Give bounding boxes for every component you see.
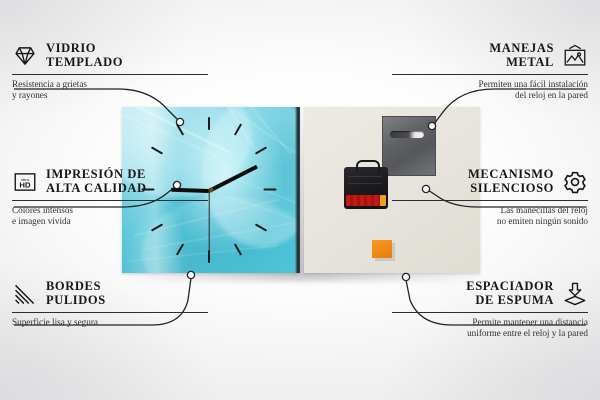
second-hand (208, 191, 209, 255)
ultra-hd-icon: ultra HD (12, 169, 38, 195)
battery-terminal (380, 195, 386, 206)
callout-desc-line1: Colores intensos (12, 205, 208, 216)
glass-panel-edge (295, 107, 300, 273)
callout-title: IMPRESIÓN DE ALTA CALIDAD (46, 168, 147, 195)
clock-center-hub (209, 188, 214, 193)
callout-divider (12, 74, 208, 75)
callout-desc-line2: uniforme entre el reloj y la pared (392, 328, 588, 339)
callout-desc-line2: y rayones (12, 90, 208, 101)
callout-title: VIDRIO TEMPLADO (46, 42, 123, 69)
callout-vidrio-templado: VIDRIO TEMPLADO Resistencia a grietas y … (12, 42, 208, 102)
callout-title: BORDES PULIDOS (46, 280, 106, 307)
callout-header: MANEJAS METAL (392, 42, 588, 69)
callout-header: BORDES PULIDOS (12, 280, 208, 307)
callout-title: ESPACIADOR DE ESPUMA (466, 280, 554, 307)
diamond-icon (12, 43, 38, 69)
callout-divider (12, 312, 208, 313)
mechanism-detail-1 (348, 176, 382, 177)
mechanism-detail-2 (348, 183, 382, 184)
callout-impresion-alta-calidad: ultra HD IMPRESIÓN DE ALTA CALIDAD Color… (12, 168, 208, 228)
metal-hanger-plate (382, 116, 436, 176)
callout-divider (12, 200, 208, 201)
callout-title: MANEJAS METAL (489, 42, 554, 69)
arrow-down-layers-icon (562, 281, 588, 307)
callout-header: ESPACIADOR DE ESPUMA (392, 280, 588, 307)
gear-icon (562, 169, 588, 195)
tick-3 (264, 189, 277, 191)
callout-divider (392, 74, 588, 75)
mechanism-hanging-loop (356, 160, 380, 171)
callout-desc-line1: Las manecillas del reloj (392, 205, 588, 216)
callout-header: VIDRIO TEMPLADO (12, 42, 208, 69)
polished-edges-icon (12, 281, 38, 307)
callout-desc-line1: Resistencia a grietas (12, 79, 208, 90)
foam-spacer (372, 240, 392, 258)
callout-header: ultra HD IMPRESIÓN DE ALTA CALIDAD (12, 168, 208, 195)
callout-desc-line2: e imagen vívida (12, 216, 208, 227)
callout-desc-line1: Permite mantener una distancia (392, 317, 588, 328)
hanger-keyhole-slot (390, 131, 424, 138)
infographic-canvas: VIDRIO TEMPLADO Resistencia a grietas y … (0, 0, 600, 400)
callout-bordes-pulidos: BORDES PULIDOS Superficie lisa y segura (12, 280, 208, 328)
callout-desc-line2: no emiten ningún sonido (392, 216, 588, 227)
callout-header: MECANISMO SILENCIOSO (392, 168, 588, 195)
tick-12 (208, 117, 210, 130)
clock-mechanism (344, 167, 388, 209)
callout-desc-line1: Superficie lisa y segura (12, 317, 208, 328)
callout-desc-line2: del reloj en la pared (392, 90, 588, 101)
callout-divider (392, 200, 588, 201)
callout-manejas-metal: MANEJAS METAL Permiten una fácil instala… (392, 42, 588, 102)
callout-divider (392, 312, 588, 313)
callout-desc-line1: Permiten una fácil instalación (392, 79, 588, 90)
picture-frame-hanger-icon (562, 43, 588, 69)
callout-espaciador-espuma: ESPACIADOR DE ESPUMA Permite mantener un… (392, 280, 588, 340)
callout-mecanismo-silencioso: MECANISMO SILENCIOSO Las manecillas del … (392, 168, 588, 228)
callout-title: MECANISMO SILENCIOSO (468, 168, 554, 195)
svg-text:HD: HD (19, 180, 31, 189)
